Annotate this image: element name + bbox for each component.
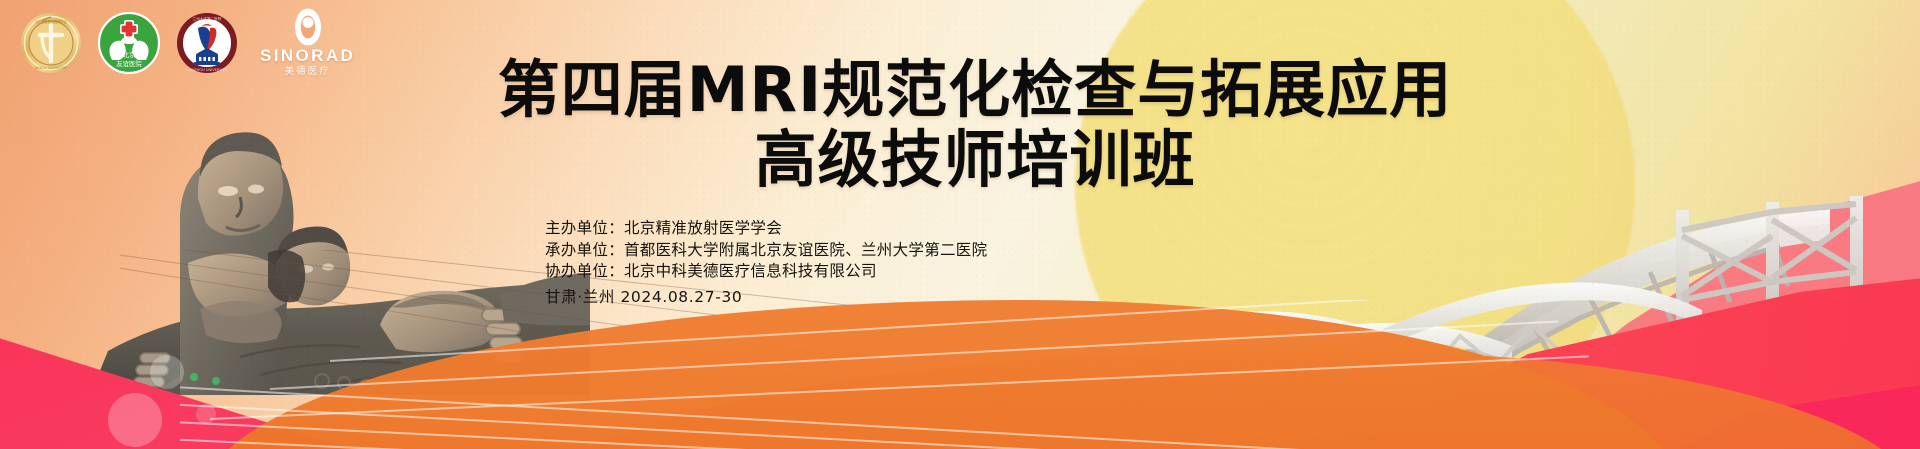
decorative-dot [150,355,184,389]
organizer-info-block: 主办单位：北京精准放射医学学会 承办单位：首都医科大学附属北京友谊医院、兰州大学… [545,218,987,308]
beijing-friendship-hospital-logo: 北京 友谊医院 [98,12,160,74]
conference-banner: 北京精准放射医学学会 BEIJING RADIOLOGY [0,0,1920,449]
svg-text:北京精准放射医学学会: 北京精准放射医学学会 [35,19,68,24]
sinorad-logo: SINORAD 美德医疗 [260,8,355,78]
lanzhou-university-second-hospital-logo: 兰州大学第二医院 LANZHOU UNIVERSITY [176,12,238,74]
info-line-host: 主办单位：北京精准放射医学学会 [545,218,987,240]
organization-logos: 北京精准放射医学学会 BEIJING RADIOLOGY [20,8,355,78]
svg-text:友谊医院: 友谊医院 [116,59,142,68]
decorative-dot [108,393,162,447]
svg-text:LANZHOU UNIVERSITY: LANZHOU UNIVERSITY [187,68,228,72]
decorative-dot [196,404,216,424]
sinorad-wordmark: SINORAD [260,47,355,65]
info-line-organizer: 承办单位：首都医科大学附属北京友谊医院、兰州大学第二医院 [545,240,987,262]
beijing-precision-radiology-society-logo: 北京精准放射医学学会 BEIJING RADIOLOGY [20,12,82,74]
info-line-coorganizer: 协办单位：北京中科美德医疗信息科技有限公司 [545,261,987,283]
svg-text:北京: 北京 [123,50,136,59]
sinorad-sub-wordmark: 美德医疗 [260,65,355,78]
svg-text:兰州大学第二医院: 兰州大学第二医院 [193,16,222,21]
svg-text:BEIJING RADIOLOGY: BEIJING RADIOLOGY [35,66,67,70]
info-line-location-date: 甘肃·兰州 2024.08.27-30 [545,287,987,309]
